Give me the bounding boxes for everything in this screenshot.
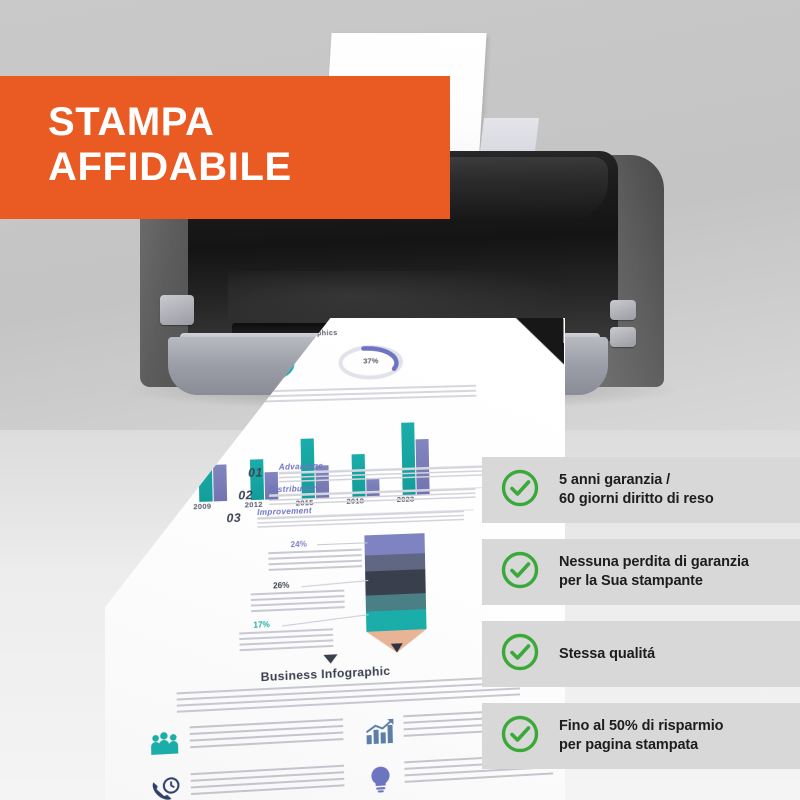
page-title: STAMPA AFFIDABILE [48,100,292,190]
pencil-seg-3 [365,569,426,596]
headline-line-2: AFFIDABILE [48,145,292,190]
funnel-leader-2 [302,580,369,587]
lightbulb-icon [364,764,397,794]
step-number-2: 02 [238,488,253,503]
clock-phone-icon [149,776,183,800]
check-circle-icon [500,468,540,513]
section-arrow-icon [323,654,337,664]
icon-cell-body-1 [190,718,344,752]
check-circle-icon [500,550,540,595]
icon-cell-1 [148,716,354,769]
bar-step-02 [213,464,227,501]
feature-label: 5 anni garanzia / 60 giorni diritto di r… [559,471,714,509]
pencil-graphic [364,533,427,654]
pencil-seg-5 [366,609,427,632]
feature-label: Nessuna perdita di garanzia per la Sua s… [559,553,749,591]
step-number-1: 01 [248,465,263,480]
pencil-seg-1 [364,533,425,555]
headline-banner: STAMPA AFFIDABILE [0,76,450,219]
icon-cell-3 [149,762,355,800]
pencil-funnel-chart: 24% 26% 17% [237,531,471,661]
funnel-percent-3: 17% [253,620,270,630]
people-group-icon [148,729,182,759]
printer-side-button-2[interactable] [610,327,636,347]
business-section-body [176,676,520,713]
feature-list: 5 anni garanzia / 60 giorni diritto di r… [482,457,800,785]
feature-item: 5 anni garanzia / 60 giorni diritto di r… [482,457,800,523]
funnel-body-3 [239,628,333,652]
x-tick-label: 2009 [193,502,211,512]
numbered-steps-list: 01 Advantage 02 Distribution 03 Improvem… [248,456,501,531]
icon-cell-body-3 [191,765,345,800]
funnel-percent-2: 26% [273,581,290,591]
funnel-body-1 [268,549,362,573]
donut-chart-2: 37% [333,342,408,382]
feature-item: Fino al 50% di risparmio per pagina stam… [482,703,800,769]
printer-power-button[interactable] [160,295,194,325]
growth-chart-icon [363,718,396,748]
funnel-leader-1 [317,542,368,545]
business-section-title: Business Infographic [261,664,391,684]
feature-label: Fino al 50% di risparmio per pagina stam… [559,717,723,755]
funnel-percent-1: 24% [290,540,306,550]
headline-line-1: STAMPA [48,100,292,145]
donut-label-2: 37% [333,355,408,366]
check-circle-icon [500,632,540,677]
feature-item: Nessuna perdita di garanzia per la Sua s… [482,539,800,605]
step-number-3: 03 [226,511,241,526]
funnel-body-2 [251,590,345,614]
page-corner-shadow [494,318,564,376]
check-circle-icon [500,714,540,759]
feature-label: Stessa qualitá [559,645,655,664]
poster-canvas: Banner Infographics 35% 37% [0,0,800,800]
funnel-leader-3 [282,614,369,626]
feature-item: Stessa qualitá [482,621,800,687]
printer-side-button-1[interactable] [610,300,636,320]
